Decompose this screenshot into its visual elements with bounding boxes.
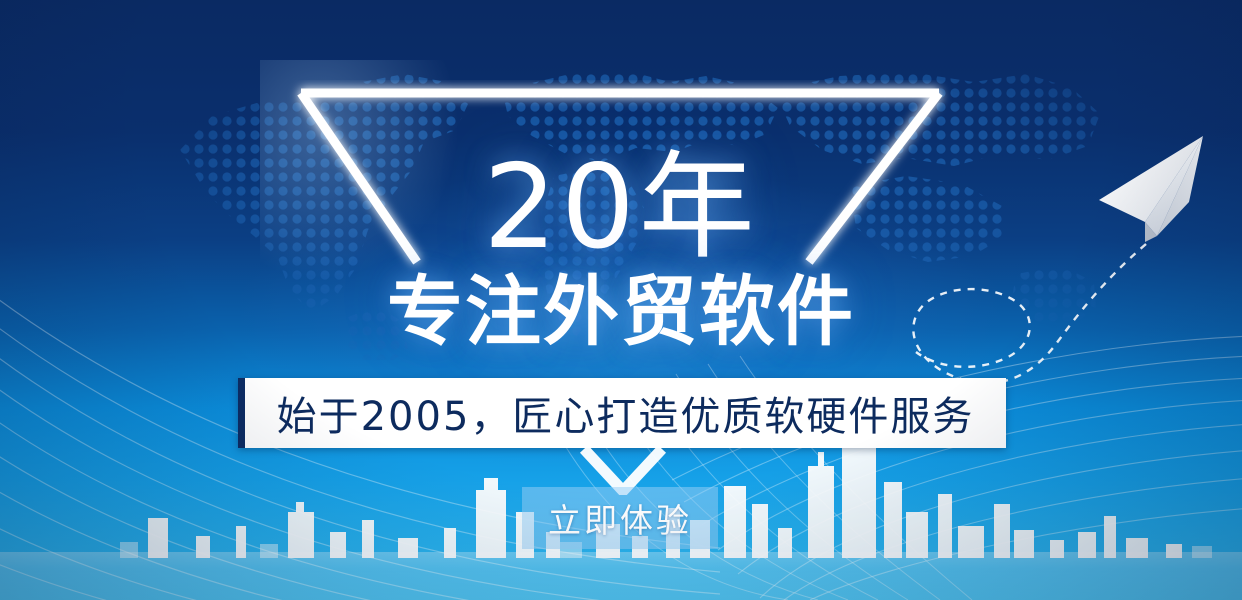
promo-banner: 20年 专注外贸软件: [0, 0, 1242, 600]
tagline-bar: 始于2005，匠心打造优质软硬件服务: [238, 378, 1006, 448]
tagline-text: 始于2005，匠心打造优质软硬件服务: [277, 384, 975, 442]
cta-button[interactable]: 立即体验: [522, 487, 718, 549]
banner-headline: 20年: [0, 150, 1242, 266]
bottom-light-band: [0, 552, 1242, 600]
wire-mesh-right: [552, 330, 1242, 600]
banner-subheadline: 专注外贸软件: [0, 274, 1242, 350]
cta-label: 立即体验: [548, 494, 692, 542]
